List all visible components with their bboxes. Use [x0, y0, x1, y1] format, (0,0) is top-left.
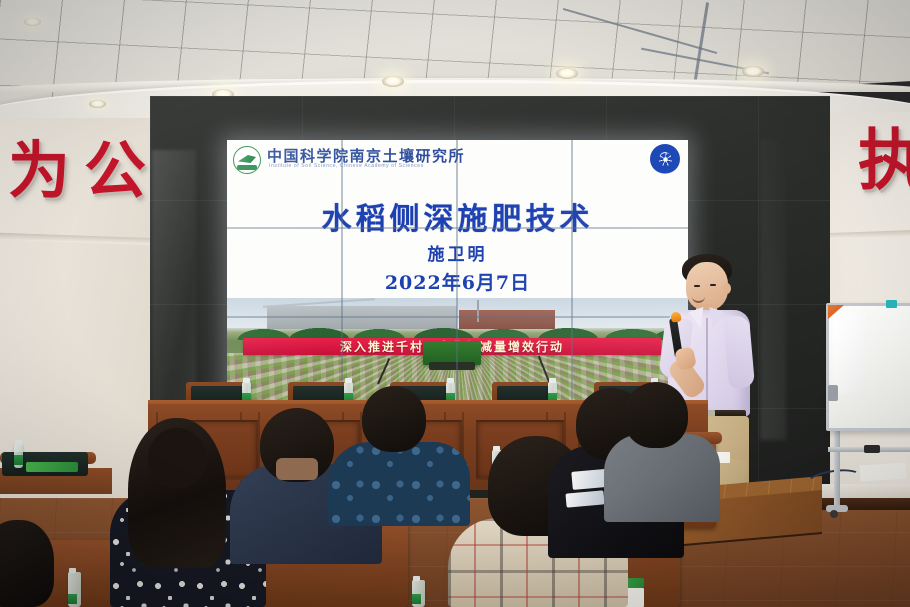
audience-bottle-front-right	[412, 580, 425, 607]
presentation-slide: 中国科学院南京土壤研究所 Institute of Soil Science, …	[227, 140, 688, 406]
institute-name-en: Institute of Soil Science, Chinese Acade…	[269, 163, 424, 169]
attendee-hair	[0, 520, 54, 607]
whiteboard-caster-icon	[830, 510, 838, 518]
whiteboard-glare	[832, 312, 866, 394]
slide-title: 水稻侧深施肥技术	[227, 194, 688, 238]
videowall-display[interactable]: 中国科学院南京土壤研究所 Institute of Soil Science, …	[227, 140, 688, 406]
downlight-1	[89, 100, 106, 108]
presenter-eye-right	[710, 284, 716, 286]
presenter-eye-left	[694, 285, 700, 287]
audience-bottle-left-rear	[14, 444, 23, 468]
presenter-head	[686, 262, 728, 310]
whiteboard-post	[834, 420, 840, 510]
photo-pylon	[477, 300, 479, 322]
downlight-9	[24, 18, 41, 26]
slide-author: 施卫明	[227, 240, 688, 265]
wall-text-left: 为公	[8, 140, 160, 202]
attendee-head	[362, 386, 426, 452]
attendee-neck	[276, 458, 318, 480]
handout-pack-left	[26, 462, 78, 472]
downlight-4	[556, 68, 578, 79]
presenter-arm-right	[723, 315, 755, 389]
presenter-ear	[723, 283, 731, 294]
whiteboard-crossbar-grip	[864, 445, 880, 453]
microphone-windscreen-icon	[670, 311, 681, 322]
whiteboard-clip-icon	[886, 300, 897, 308]
photo-transplanter-machine	[423, 341, 481, 365]
downlight-3	[382, 76, 404, 87]
cas-atom-icon	[650, 144, 680, 174]
institute-leaf-icon	[233, 146, 261, 174]
whiteboard-height-knob[interactable]	[828, 385, 838, 401]
handout-paper-far-right	[859, 462, 906, 481]
attendee-head	[624, 382, 688, 448]
wall-text-right: 执	[858, 128, 910, 194]
attendee-head	[148, 428, 206, 488]
attendee-right-back	[604, 382, 732, 522]
slide-date: 2022年6月7日	[227, 268, 688, 295]
slide-header: 中国科学院南京土壤研究所 Institute of Soil Science, …	[227, 140, 688, 178]
attendee-far-left	[0, 520, 72, 607]
conference-room-photo: 为公 执 中国科学院南京土壤研究所 Institute of Soil Scie…	[0, 0, 910, 607]
downlight-5	[742, 66, 764, 77]
